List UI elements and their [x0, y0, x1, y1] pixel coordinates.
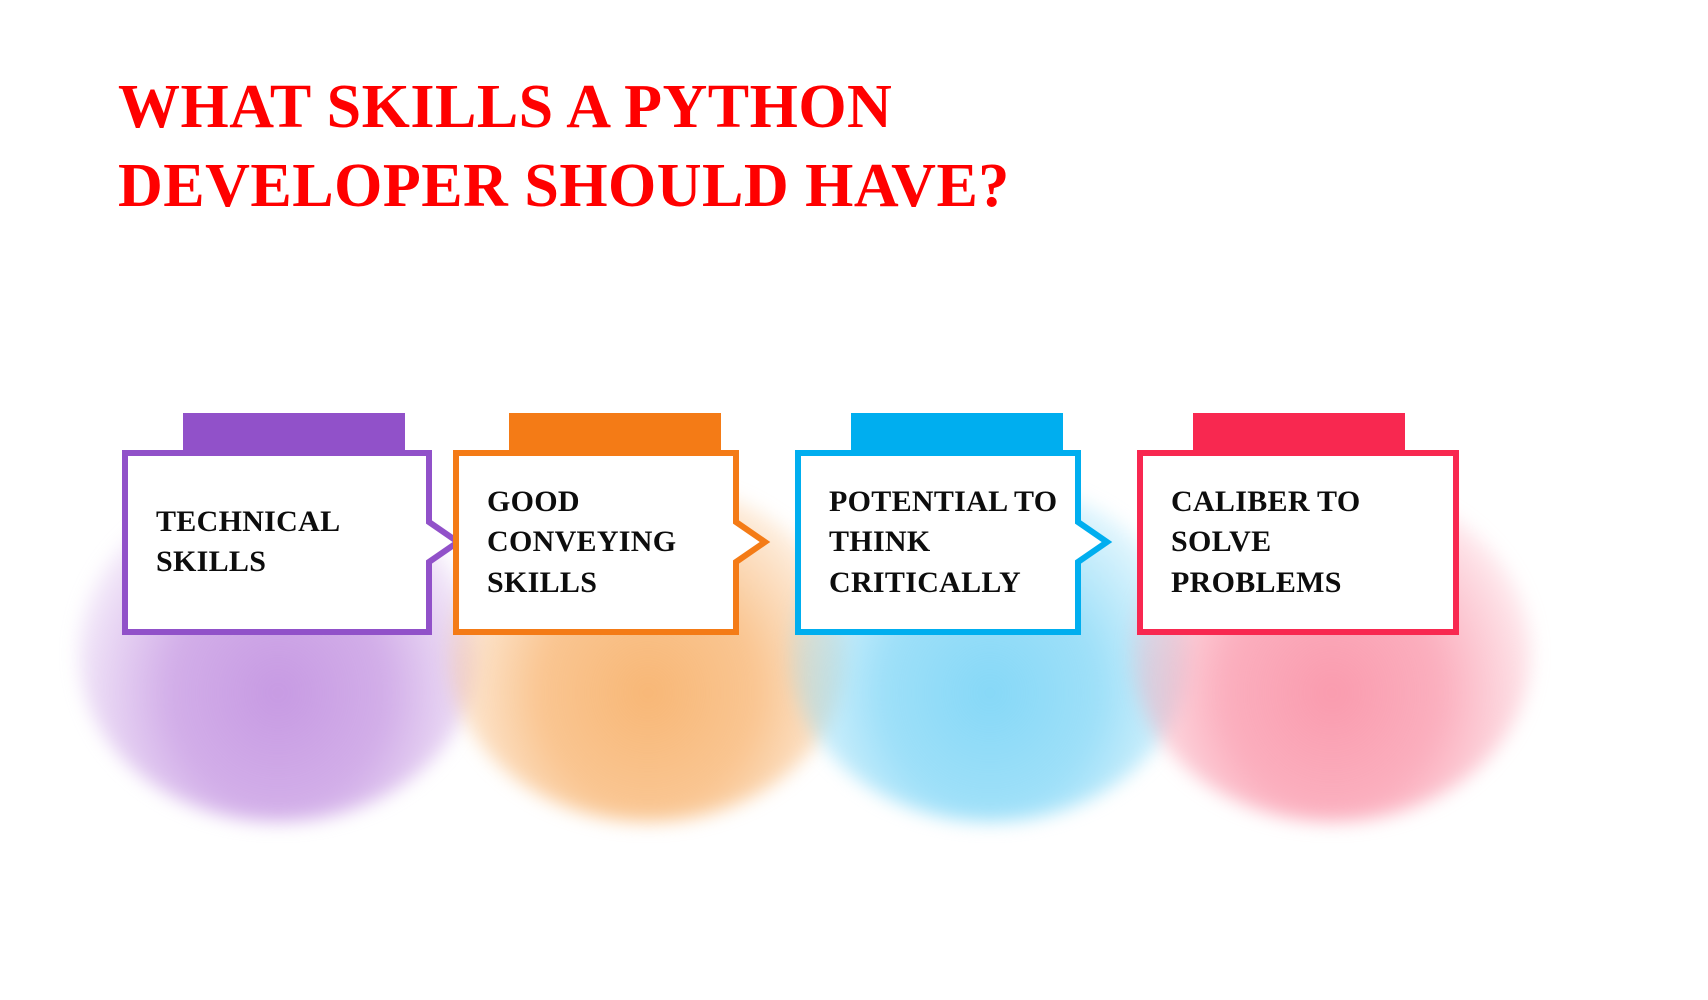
page-title: WHAT SKILLS A PYTHON DEVELOPER SHOULD HA…: [118, 68, 1318, 227]
process-step-2[interactable]: GOOD CONVEYING SKILLS: [453, 400, 793, 650]
process-step-4[interactable]: CALIBER TO SOLVE PROBLEMS: [1137, 400, 1467, 650]
process-step-1[interactable]: TECHNICAL SKILLS: [122, 400, 462, 650]
process-diagram: TECHNICAL SKILLS GOOD CONVEYING SKILLS P…: [0, 400, 1708, 820]
process-step-3[interactable]: POTENTIAL TO THINK CRITICALLY: [795, 400, 1135, 650]
step-label-3: POTENTIAL TO THINK CRITICALLY: [829, 481, 1057, 603]
step-label-1: TECHNICAL SKILLS: [156, 502, 340, 584]
step-card-1[interactable]: TECHNICAL SKILLS: [122, 450, 462, 635]
step-card-4[interactable]: CALIBER TO SOLVE PROBLEMS: [1137, 450, 1459, 635]
step-card-2[interactable]: GOOD CONVEYING SKILLS: [453, 450, 769, 635]
slide-canvas: WHAT SKILLS A PYTHON DEVELOPER SHOULD HA…: [0, 0, 1708, 1000]
step-label-4: CALIBER TO SOLVE PROBLEMS: [1171, 481, 1360, 603]
step-card-3[interactable]: POTENTIAL TO THINK CRITICALLY: [795, 450, 1111, 635]
step-label-2: GOOD CONVEYING SKILLS: [487, 481, 676, 603]
